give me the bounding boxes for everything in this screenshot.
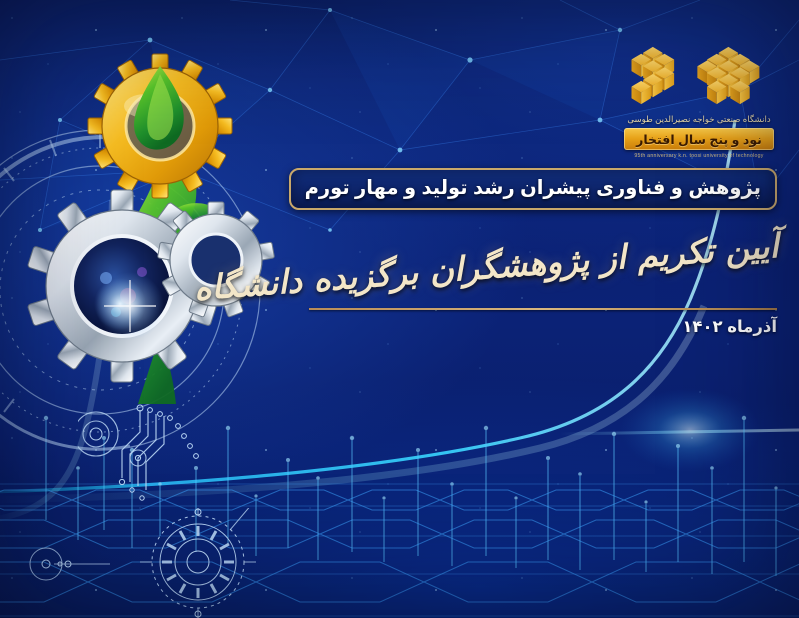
divider-rule xyxy=(309,308,777,310)
radial-dial-hud xyxy=(140,508,256,618)
event-date: آذرماه ۱۴۰۲ xyxy=(272,317,777,337)
poster-canvas: دانشگاه صنعتی خواجه نصیرالدین طوسی نود و… xyxy=(0,0,799,618)
small-node-hud xyxy=(24,538,114,590)
anniversary-english-caption: 95th anniversary k.n. toosi university o… xyxy=(617,153,781,159)
text-block: پژوهش و فناوری پیشران رشد تولید و مهار ت… xyxy=(272,168,777,337)
slogan-banner: پژوهش و فناوری پیشران رشد تولید و مهار ت… xyxy=(289,168,777,210)
slogan-text: پژوهش و فناوری پیشران رشد تولید و مهار ت… xyxy=(305,177,761,199)
gears-and-sprout-emblem xyxy=(10,48,310,408)
headline-text: آیین تکریم از پژوهشگران برگزیده دانشگاه xyxy=(193,226,780,308)
anniversary-ribbon: نود و پنج سال افتخار xyxy=(624,128,774,150)
golden-cube-95-mark xyxy=(616,44,781,106)
anniversary-ribbon-label: نود و پنج سال افتخار xyxy=(636,132,762,147)
headline-calligraphy: آیین تکریم از پژوهشگران برگزیده دانشگاه xyxy=(272,226,777,304)
anniversary-logo: دانشگاه صنعتی خواجه نصیرالدین طوسی نود و… xyxy=(617,44,781,159)
university-name-fa: دانشگاه صنعتی خواجه نصیرالدین طوسی xyxy=(617,114,781,125)
